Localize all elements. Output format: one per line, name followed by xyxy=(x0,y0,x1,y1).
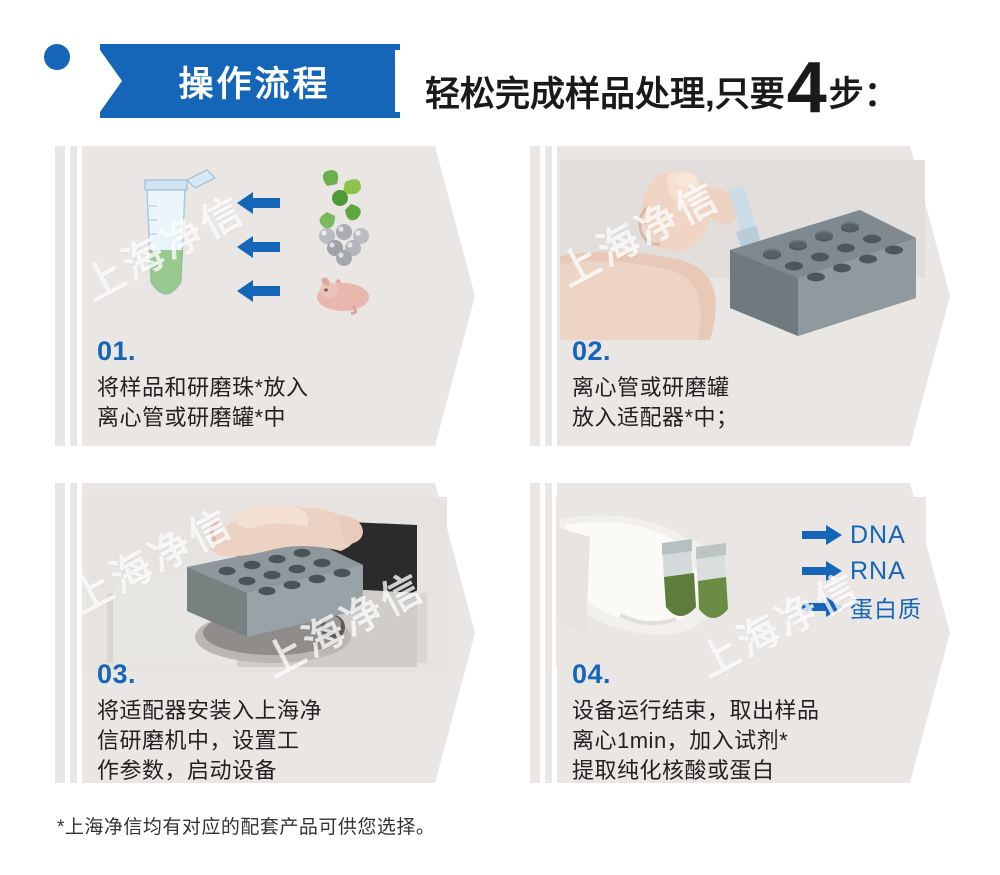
step-card-1-line-2: 离心管或研磨罐*中 xyxy=(97,403,447,433)
animal-tissue-icon xyxy=(317,278,369,314)
step-card-2-line-2: 放入适配器*中； xyxy=(572,403,922,433)
step-card-4: DNA RNA 蛋白质 上海净信 04. xyxy=(530,483,950,783)
steps-grid: 上海净信 01. 将样品和研磨珠*放入 离心管或研磨罐*中 xyxy=(0,140,1000,800)
arrow-left-icon-3 xyxy=(237,280,280,302)
step-card-3-number: 03. xyxy=(97,659,447,690)
step-card-4-text: 设备运行结束，取出样品 离心1min，加入试剂* 提取纯化核酸或蛋白 xyxy=(572,696,942,786)
banner-bottom-bar xyxy=(100,112,400,118)
step-card-2-stripe-a xyxy=(540,146,545,446)
step-card-3-photo xyxy=(87,497,447,672)
output-row-rna: RNA xyxy=(802,553,922,589)
step-card-1-stripe-a xyxy=(65,146,70,446)
page-root: 操作流程 轻松完成样品处理,只要 4 步 ： xyxy=(0,0,1000,875)
step-card-3-body: 03. 将适配器安装入上海净 信研磨机中，设置工 作参数，启动设备 xyxy=(97,659,447,786)
banner-top-bar xyxy=(100,44,400,50)
output-row-dna: DNA xyxy=(802,517,922,553)
step-card-1-body: 01. 将样品和研磨珠*放入 离心管或研磨罐*中 xyxy=(97,336,447,433)
step-card-4-line-1: 设备运行结束，取出样品 xyxy=(572,696,942,726)
output-list: DNA RNA 蛋白质 xyxy=(802,517,922,625)
output-label-rna: RNA xyxy=(850,557,906,586)
step-card-4-body: 04. 设备运行结束，取出样品 离心1min，加入试剂* 提取纯化核酸或蛋白 xyxy=(572,659,942,786)
step-card-4-stripe-a xyxy=(540,483,545,783)
output-row-protein: 蛋白质 xyxy=(802,589,922,625)
step-card-2-stripe-b xyxy=(552,146,557,446)
output-label-protein: 蛋白质 xyxy=(850,590,922,624)
arrow-right-icon-protein xyxy=(802,596,842,618)
arrow-left-icon-1 xyxy=(237,192,280,214)
step-card-2-body: 02. 离心管或研磨罐 放入适配器*中； xyxy=(572,336,922,433)
step-card-1-number: 01. xyxy=(97,336,447,367)
page-title-part2: 步 xyxy=(829,66,864,117)
tube-with-samples-illustration xyxy=(95,164,445,334)
page-title-part3: ： xyxy=(864,66,899,117)
arrow-right-icon-dna xyxy=(802,524,842,546)
step-card-1-illustration xyxy=(95,164,445,334)
centrifuge-tube-icon xyxy=(145,170,215,294)
page-header: 操作流程 轻松完成样品处理,只要 4 步 ： xyxy=(0,0,1000,135)
grinding-beads-icon xyxy=(319,224,369,266)
step-card-3-line-1: 将适配器安装入上海净 xyxy=(97,696,447,726)
hand-installing-adapter-into-grinder-photo xyxy=(87,497,447,672)
step-card-1-line-1: 将样品和研磨珠*放入 xyxy=(97,373,447,403)
step-card-3-line-2: 信研磨机中，设置工 xyxy=(97,726,447,756)
hand-placing-tube-into-adapter-photo xyxy=(560,160,925,340)
step-card-2-text: 离心管或研磨罐 放入适配器*中； xyxy=(572,373,922,433)
step-card-4-line-3: 提取纯化核酸或蛋白 xyxy=(572,756,942,786)
step-card-3-stripe-b xyxy=(77,483,82,783)
output-label-dna: DNA xyxy=(850,521,906,550)
page-title: 轻松完成样品处理,只要 4 步 ： xyxy=(425,52,899,117)
page-title-number: 4 xyxy=(787,58,827,119)
step-card-2-line-1: 离心管或研磨罐 xyxy=(572,373,922,403)
step-card-1-stripe-b xyxy=(77,146,82,446)
step-card-3-line-3: 作参数，启动设备 xyxy=(97,756,447,786)
step-card-2: 上海净信 02. 离心管或研磨罐 放入适配器*中； xyxy=(530,146,950,446)
plant-sample-icon xyxy=(319,170,361,228)
step-card-2-photo xyxy=(560,160,925,340)
step-card-4-line-2: 离心1min，加入试剂* xyxy=(572,726,942,756)
step-card-3-stripe-a xyxy=(65,483,70,783)
step-card-1: 上海净信 01. 将样品和研磨珠*放入 离心管或研磨罐*中 xyxy=(55,146,475,446)
section-banner: 操作流程 xyxy=(100,50,395,112)
page-title-part1: 轻松完成样品处理,只要 xyxy=(425,66,785,117)
section-banner-label: 操作流程 xyxy=(100,50,395,112)
arrow-left-icon-2 xyxy=(237,236,280,258)
step-card-3: 上海净信 上海净信 03. 将适配器安装入上海净 信研磨机中，设置工 作参数，启… xyxy=(55,483,475,783)
footnote-text: *上海净信均有对应的配套产品可供您选择。 xyxy=(57,812,435,839)
step-card-4-number: 04. xyxy=(572,659,942,690)
step-card-3-text: 将适配器安装入上海净 信研磨机中，设置工 作参数，启动设备 xyxy=(97,696,447,786)
step-card-1-text: 将样品和研磨珠*放入 离心管或研磨罐*中 xyxy=(97,373,447,433)
decorative-dot xyxy=(44,44,70,70)
step-card-2-number: 02. xyxy=(572,336,922,367)
arrow-right-icon-rna xyxy=(802,560,842,582)
